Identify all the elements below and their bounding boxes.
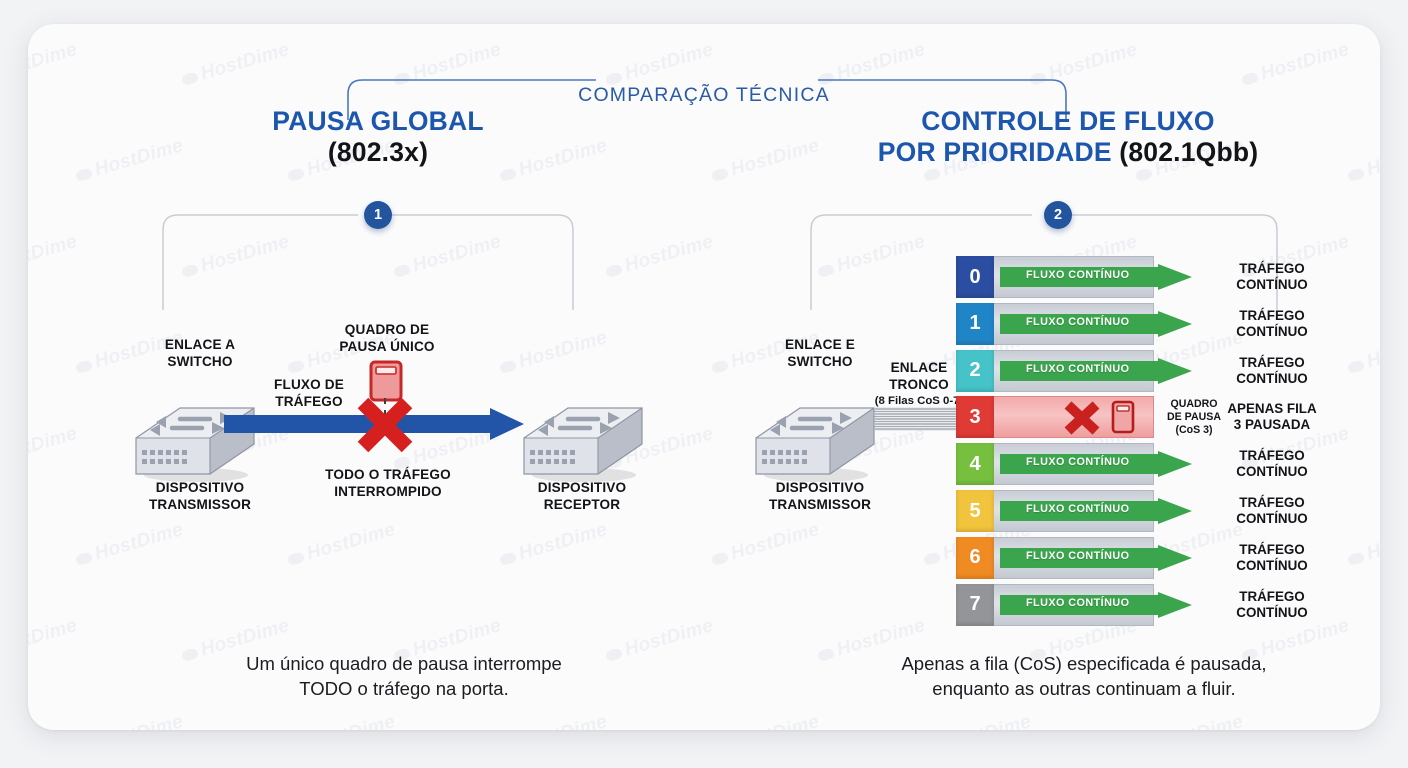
- right-title-line1: CONTROLE DE FLUXO: [808, 106, 1328, 137]
- cos-queue-row: 1FLUXO CONTÍNUOTRÁFEGO CONTÍNUO: [956, 303, 1154, 345]
- cos-queue-id-badge: 3: [956, 396, 994, 438]
- receiver-label: DISPOSITIVO RECEPTOR: [498, 480, 666, 513]
- flow-arrow: FLUXO CONTÍNUO: [1000, 592, 1192, 618]
- paused-x-icon: [1062, 400, 1102, 436]
- cos-queue-result-label: TRÁFEGO CONTÍNUO: [1208, 495, 1336, 527]
- flow-arrow: FLUXO CONTÍNUO: [1000, 498, 1192, 524]
- trunk-link-cable: [874, 406, 960, 432]
- cos-queue-result-label: TRÁFEGO CONTÍNUO: [1208, 448, 1336, 480]
- step-badge-2: 2: [1044, 201, 1072, 229]
- watermark-text: HostDime: [921, 711, 1034, 730]
- watermark-text: HostDime: [28, 615, 80, 667]
- watermark-text: HostDime: [709, 135, 822, 187]
- flow-arrow: FLUXO CONTÍNUO: [1000, 358, 1192, 384]
- trunk-label: ENLACE TRONCO: [870, 360, 968, 393]
- watermark-text: HostDime: [28, 231, 80, 283]
- cos-queue-id-badge: 5: [956, 490, 994, 532]
- watermark-text: HostDime: [73, 711, 186, 730]
- right-title-line2: POR PRIORIDADE (802.1Qbb): [808, 137, 1328, 168]
- flow-arrow-label: FLUXO CONTÍNUO: [1026, 316, 1129, 328]
- blocked-x-icon-left: [354, 396, 416, 454]
- left-caption: Um único quadro de pausa interrompe TODO…: [148, 652, 660, 702]
- cos-queue-result-label: TRÁFEGO CONTÍNUO: [1208, 542, 1336, 574]
- pause-frame-label-left: QUADRO DE PAUSA ÚNICO: [316, 322, 458, 355]
- watermark-text: HostDime: [28, 423, 80, 475]
- cos-queue-id-badge: 0: [956, 256, 994, 298]
- watermark-text: HostDime: [709, 711, 822, 730]
- watermark-text: HostDime: [285, 711, 398, 730]
- flow-arrow: FLUXO CONTÍNUO: [1000, 451, 1192, 477]
- watermark-text: HostDime: [497, 711, 610, 730]
- cos-queue-row: 4FLUXO CONTÍNUOTRÁFEGO CONTÍNUO: [956, 443, 1154, 485]
- step-badge-1: 1: [364, 201, 392, 229]
- flow-arrow: FLUXO CONTÍNUO: [1000, 545, 1192, 571]
- cos-queue-result-label: APENAS FILA 3 PAUSADA: [1208, 401, 1336, 433]
- pause-frame-icon-right: [1111, 400, 1135, 434]
- watermark-text: HostDime: [1345, 711, 1380, 730]
- watermark-text: HostDime: [285, 519, 398, 571]
- flow-arrow-label: FLUXO CONTÍNUO: [1026, 550, 1129, 562]
- cos-queue-id-badge: 6: [956, 537, 994, 579]
- cos-queue-row: 2FLUXO CONTÍNUOTRÁFEGO CONTÍNUO: [956, 350, 1154, 392]
- flow-arrow-label: FLUXO CONTÍNUO: [1026, 456, 1129, 468]
- infographic-card: HostDimeHostDimeHostDimeHostDimeHostDime…: [28, 24, 1380, 730]
- watermark-text: HostDime: [603, 231, 716, 283]
- flow-arrow-label: FLUXO CONTÍNUO: [1026, 503, 1129, 515]
- watermark-text: HostDime: [73, 135, 186, 187]
- left-panel-title: PAUSA GLOBAL (802.3x): [198, 106, 558, 169]
- watermark-text: HostDime: [1345, 327, 1380, 379]
- left-title-line1: PAUSA GLOBAL: [198, 106, 558, 137]
- left-title-standard: (802.3x): [198, 137, 558, 168]
- cos-queue-row: 5FLUXO CONTÍNUOTRÁFEGO CONTÍNUO: [956, 490, 1154, 532]
- flow-arrow-label: FLUXO CONTÍNUO: [1026, 363, 1129, 375]
- cos-queue-result-label: TRÁFEGO CONTÍNUO: [1208, 261, 1336, 293]
- cos-queue-result-label: TRÁFEGO CONTÍNUO: [1208, 308, 1336, 340]
- right-caption: Apenas a fila (CoS) especificada é pausa…: [800, 652, 1368, 702]
- flow-arrow-label: FLUXO CONTÍNUO: [1026, 597, 1129, 609]
- right-title-standard: (802.1Qbb): [1119, 137, 1258, 167]
- blocked-label-left: TODO O TRÁFEGO INTERROMPIDO: [300, 467, 476, 500]
- sender-label-right: DISPOSITIVO TRANSMISSOR: [736, 480, 904, 513]
- cos-queue-result-label: TRÁFEGO CONTÍNUO: [1208, 589, 1336, 621]
- watermark-text: HostDime: [73, 519, 186, 571]
- cos-queue-id-badge: 1: [956, 303, 994, 345]
- watermark-text: HostDime: [709, 519, 822, 571]
- flow-label-left: FLUXO DE TRÁFEGO: [250, 377, 368, 410]
- flow-arrow-label: FLUXO CONTÍNUO: [1026, 269, 1129, 281]
- watermark-text: HostDime: [1133, 711, 1246, 730]
- cos-queue-row: 3QUADRO DE PAUSA (CoS 3)APENAS FILA 3 PA…: [956, 396, 1154, 438]
- cos-queue-row: 0FLUXO CONTÍNUOTRÁFEGO CONTÍNUO: [956, 256, 1154, 298]
- cos-queue-id-badge: 7: [956, 584, 994, 626]
- watermark-text: HostDime: [1345, 135, 1380, 187]
- watermark-text: HostDime: [497, 519, 610, 571]
- cos-queue-id-badge: 2: [956, 350, 994, 392]
- flow-arrow: FLUXO CONTÍNUO: [1000, 311, 1192, 337]
- comparison-title: COMPARAÇÃO TÉCNICA: [28, 84, 1380, 107]
- watermark-text: HostDime: [497, 327, 610, 379]
- flow-arrow: FLUXO CONTÍNUO: [1000, 264, 1192, 290]
- receiver-switch: [516, 392, 648, 484]
- right-panel-title: CONTROLE DE FLUXO POR PRIORIDADE (802.1Q…: [808, 106, 1328, 169]
- cos-queue-row: 6FLUXO CONTÍNUOTRÁFEGO CONTÍNUO: [956, 537, 1154, 579]
- sender-label-left: DISPOSITIVO TRANSMISSOR: [116, 480, 284, 513]
- cos-queue-row: 7FLUXO CONTÍNUOTRÁFEGO CONTÍNUO: [956, 584, 1154, 626]
- left-uplink-label: ENLACE A SWITCHO: [120, 337, 280, 370]
- cos-queue-id-badge: 4: [956, 443, 994, 485]
- cos-queue-result-label: TRÁFEGO CONTÍNUO: [1208, 355, 1336, 387]
- watermark-text: HostDime: [1345, 519, 1380, 571]
